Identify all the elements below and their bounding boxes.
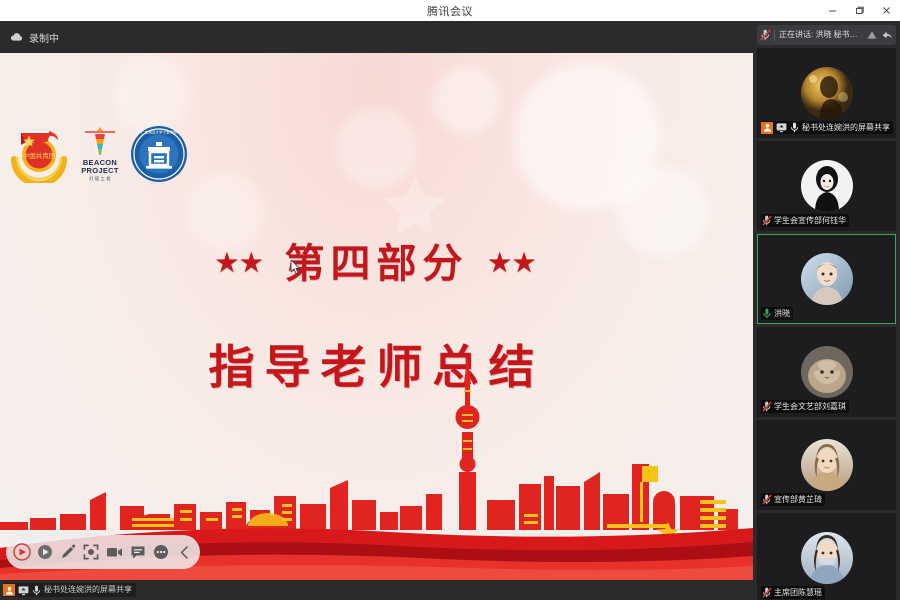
slide-title-line: ★★ 第四部分 ★★	[0, 231, 753, 289]
title-stars-right: ★★	[488, 248, 537, 277]
participant-name-2: 洪晓	[774, 307, 790, 320]
mic-unmuted-icon	[789, 122, 800, 134]
mic-muted-icon	[761, 215, 772, 227]
shared-screen-stage[interactable]: 中国共青团 BEACON	[0, 53, 753, 580]
status-share-label: 秘书处连婉洪的屏幕共享	[44, 584, 132, 596]
avatar-hongxiao	[801, 253, 853, 305]
mic-muted-icon	[760, 29, 771, 41]
screen-share-badge-icon	[17, 584, 29, 596]
meeting-body: 录制中	[0, 21, 900, 600]
presentation-slide: 中国共青团 BEACON	[0, 53, 753, 580]
slide-title: 第四部分	[285, 240, 469, 287]
participant-name-4: 宣传部黄芷琦	[774, 493, 822, 506]
active-speaker-label: 正在讲话: 洪晓 秘书处连...	[774, 29, 863, 41]
play-button[interactable]	[33, 540, 56, 564]
collapse-button[interactable]	[173, 540, 196, 564]
play-icon	[37, 544, 53, 560]
pen-icon	[60, 544, 76, 560]
mic-muted-icon	[761, 494, 772, 506]
screen-share-badge-icon	[775, 122, 787, 134]
title-stars-left: ★★	[216, 248, 265, 277]
avatar-hewuhua	[801, 160, 853, 212]
cloud-icon	[10, 32, 23, 42]
participant-tile-5[interactable]: 主席团陈慧瑶	[757, 513, 896, 600]
participant-tile-1[interactable]: 学生会宣传部何钰华	[757, 141, 896, 231]
participant-namebar-2: 洪晓	[761, 307, 793, 320]
close-button[interactable]	[873, 0, 900, 21]
recording-label: 录制中	[29, 30, 59, 45]
beacon-line2: PROJECT	[81, 167, 119, 175]
participant-name-0: 秘书处连婉洪的屏幕共享	[802, 121, 890, 134]
city-skyline-graphic	[0, 354, 753, 544]
meeting-topbar: 录制中	[0, 21, 753, 53]
stop-record-button[interactable]	[10, 540, 33, 564]
participant-tile-0[interactable]: 秘书处连婉洪的屏幕共享	[757, 48, 896, 138]
chevron-up-icon[interactable]	[866, 28, 878, 42]
tencent-meeting-window: 腾讯会议	[0, 0, 900, 600]
participant-namebar-4: 宣传部黄芷琦	[761, 493, 825, 506]
title-bar: 腾讯会议	[0, 0, 900, 21]
camera-button[interactable]	[103, 540, 126, 564]
beacon-cn: 灯 塔 工 程	[89, 176, 111, 182]
active-speaker-bar[interactable]: 正在讲话: 洪晓 秘书处连...	[757, 25, 896, 45]
participant-namebar-5: 主席团陈慧瑶	[761, 586, 825, 599]
annotate-pen-button[interactable]	[57, 540, 80, 564]
minimize-button[interactable]	[819, 0, 846, 21]
participant-name-5: 主席团陈慧瑶	[774, 586, 822, 599]
record-stop-icon	[13, 543, 31, 561]
mic-speaking-icon	[761, 308, 772, 320]
slide-logos: 中国共青团 BEACON	[8, 125, 188, 188]
window-title: 腾讯会议	[427, 3, 473, 19]
mic-unmuted-icon	[31, 584, 42, 596]
communist-youth-league-emblem: 中国共青团	[8, 125, 70, 188]
mouse-cursor-icon	[291, 260, 300, 274]
participant-tiles: 秘书处连婉洪的屏幕共享	[757, 48, 896, 600]
recording-indicator[interactable]: 录制中	[10, 30, 59, 45]
bottom-status-bar: 秘书处连婉洪的屏幕共享	[0, 580, 753, 600]
video-camera-icon	[106, 544, 123, 560]
participant-namebar-0: 秘书处连婉洪的屏幕共享	[761, 121, 893, 134]
annotation-toolbar[interactable]	[6, 535, 200, 569]
participant-name-3: 学生会文艺部刘嘉琪	[774, 400, 846, 413]
more-dots-icon	[153, 544, 169, 560]
window-controls	[819, 0, 900, 21]
arrow-back-icon[interactable]	[881, 28, 893, 42]
participant-namebar-3: 学生会文艺部刘嘉琪	[761, 400, 849, 413]
participant-namebar-1: 学生会宣传部何钰华	[761, 214, 849, 227]
chat-bubble-icon	[130, 544, 146, 560]
chat-button[interactable]	[126, 540, 149, 564]
participant-tile-2[interactable]: 洪晓	[757, 234, 896, 324]
participants-sidebar: 正在讲话: 洪晓 秘书处连...	[753, 21, 900, 600]
svg-text:中国共青团: 中国共青团	[23, 151, 56, 160]
focus-frame-icon	[83, 544, 99, 560]
participant-tile-3[interactable]: 学生会文艺部刘嘉琪	[757, 327, 896, 417]
avatar-lianwanhong	[801, 67, 853, 119]
mic-muted-icon	[761, 587, 772, 599]
mic-muted-icon	[761, 401, 772, 413]
svg-text:广东海洋大学寸金学院: 广东海洋大学寸金学院	[141, 130, 177, 135]
participant-tile-4[interactable]: 宣传部黄芷琦	[757, 420, 896, 510]
avatar-liujiaqi	[801, 346, 853, 398]
restore-button[interactable]	[846, 0, 873, 21]
host-badge-icon	[3, 584, 15, 596]
beacon-project-logo: BEACON PROJECT 灯 塔 工 程	[76, 125, 124, 187]
avatar-chenhuiyao	[801, 532, 853, 584]
spotlight-button[interactable]	[80, 540, 103, 564]
chevron-left-icon	[178, 545, 191, 560]
status-share-chip[interactable]: 秘书处连婉洪的屏幕共享	[3, 583, 136, 597]
more-button[interactable]	[150, 540, 173, 564]
participant-name-1: 学生会宣传部何钰华	[774, 214, 846, 227]
host-badge-icon	[761, 122, 773, 134]
avatar-huangzhiqi	[801, 439, 853, 491]
university-seal-logo: 广东海洋大学寸金学院	[130, 125, 188, 188]
